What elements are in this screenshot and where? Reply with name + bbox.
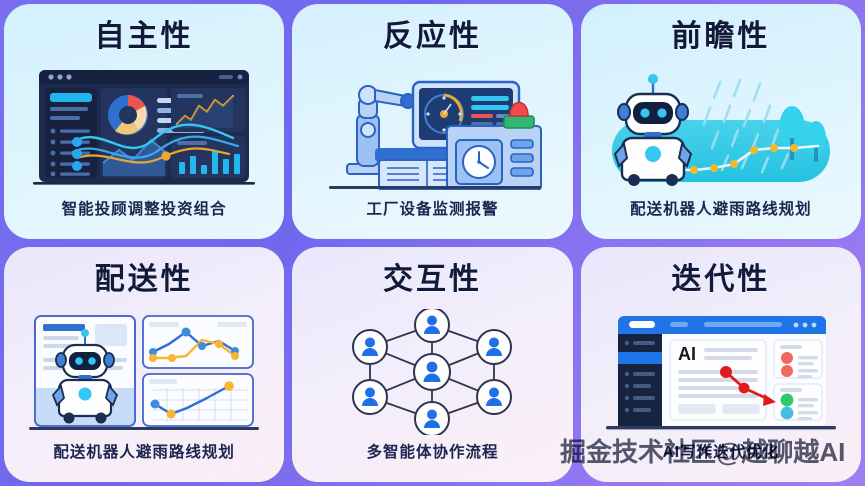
card-title: 前瞻性 [671,22,770,52]
svg-text:AI: AI [678,344,696,364]
card-title: 交互性 [383,265,482,295]
card-caption: 工厂设备监测报警 [366,202,498,218]
card-interactivity[interactable]: 交互性 [292,247,572,482]
card-reactivity[interactable]: 反应性 [292,4,572,239]
card-delivery[interactable]: 配送性 [4,247,284,482]
card-title: 反应性 [383,22,482,52]
multi-agent-network-illustration [300,295,564,445]
card-proactivity[interactable]: 前瞻性 [581,4,861,239]
card-caption: 智能投顾调整投资组合 [62,202,227,218]
card-iterative[interactable]: 迭代性 AI [581,247,861,482]
factory-monitoring-illustration [300,52,564,202]
card-caption: 配送机器人避雨路线规划 [630,202,812,218]
card-caption: AI写作迭代优化 [663,445,780,461]
card-caption: 多智能体协作流程 [366,445,498,461]
card-title: 自主性 [95,22,194,52]
robot-rain-route-illustration [589,52,853,202]
card-autonomy[interactable]: 自主性 [4,4,284,239]
investment-dashboard-illustration [12,52,276,202]
card-title: 迭代性 [671,265,770,295]
card-caption: 配送机器人避雨路线规划 [53,445,235,461]
delivery-robot-charts-illustration [12,295,276,445]
ai-writing-iteration-illustration: AI [589,295,853,445]
card-grid: 自主性 [0,0,865,486]
card-title: 配送性 [95,265,194,295]
